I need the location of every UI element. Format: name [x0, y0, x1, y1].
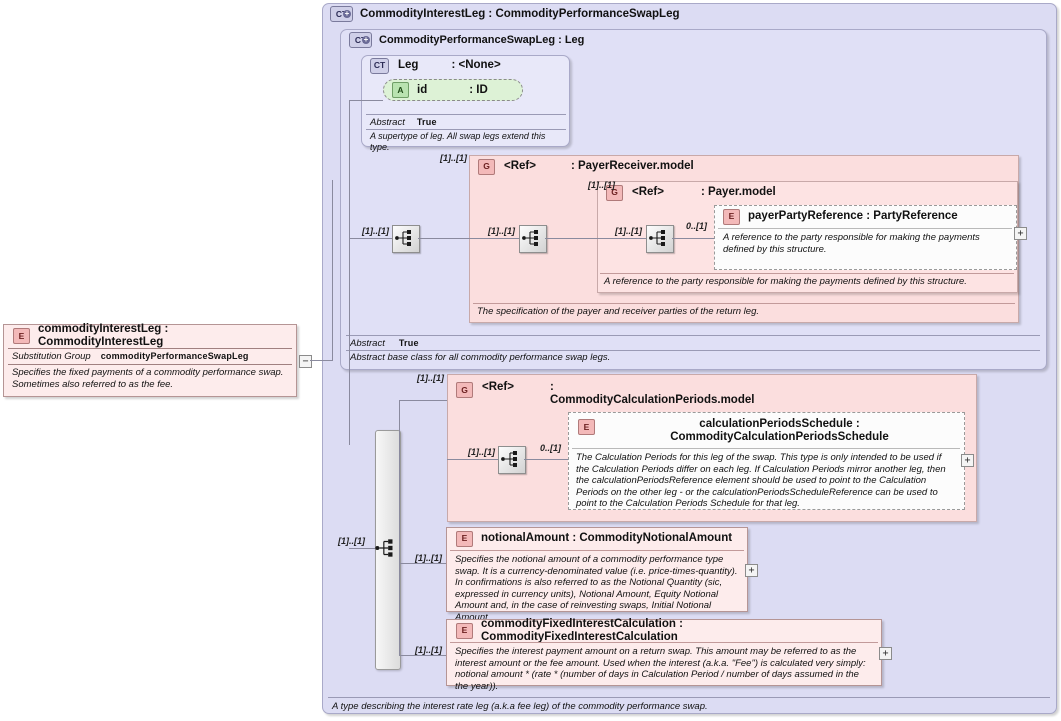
complex-type-icon: CT+ — [330, 6, 353, 22]
mid-abstract-key: Abstract — [350, 338, 385, 349]
connector-seq-to-payerreceiver — [418, 238, 469, 239]
element-icon: E — [723, 209, 740, 225]
calc-periods-sequence-icon[interactable] — [498, 446, 526, 474]
payer-party-reference-title-row: E payerPartyReference : PartyReference — [717, 208, 1015, 225]
connector-leg-branch — [349, 100, 383, 101]
left-element-description: Specifies the fixed payments of a commod… — [6, 365, 294, 392]
connector-bar-to-calcgroup — [399, 400, 447, 401]
e-label: E — [19, 332, 25, 341]
complex-type-icon: CT+ — [349, 32, 372, 48]
payer-sequence-icon[interactable] — [519, 225, 547, 253]
connector-seq-to-payerparty — [672, 238, 714, 239]
left-element-title: commodityInterestLeg : CommodityInterest… — [38, 323, 291, 349]
mid-type-abstract-row: Abstract True — [344, 336, 1038, 351]
outer-type-footer-description: A type describing the interest rate leg … — [326, 699, 1046, 715]
payer-receiver-description: The specification of the payer and recei… — [471, 304, 1015, 320]
element-icon: E — [13, 328, 30, 344]
calc-periods-inner-mult: [1]..[1] — [468, 447, 495, 457]
g-label: G — [483, 162, 490, 171]
fixed-interest-calculation-description: Specifies the interest payment amount on… — [449, 644, 879, 694]
e-label: E — [462, 626, 468, 635]
calc-periods-mult-out: 0..[1] — [540, 443, 561, 453]
payer-mult-top: [1]..[1] — [588, 180, 615, 190]
outer-type-title: CommodityInterestLeg : CommodityPerforma… — [360, 8, 680, 21]
payer-receiver-sequence-icon[interactable] — [392, 225, 420, 253]
outer-type-title-row: CT+ CommodityInterestLeg : CommodityPerf… — [324, 5, 1024, 23]
left-element-collapse-toggle[interactable]: − — [299, 355, 312, 368]
payer-description: A reference to the party responsible for… — [598, 274, 1014, 290]
mid-type-title-row: CT+ CommodityPerformanceSwapLeg : Leg — [343, 31, 1003, 49]
calc-periods-schedule-expand-toggle[interactable]: + — [961, 454, 974, 467]
notional-amount-title-row: E notionalAmount : CommodityNotionalAmou… — [450, 530, 746, 547]
complex-type-icon: CT — [370, 58, 389, 74]
e-label: E — [584, 423, 590, 432]
payer-party-reference-expand-toggle[interactable]: + — [1014, 227, 1027, 240]
notional-amount-title: notionalAmount : CommodityNotionalAmount — [481, 532, 732, 545]
leg-type-base: : <None> — [451, 59, 500, 72]
plus-badge-icon: + — [362, 36, 370, 44]
calc-periods-schedule-description: The Calculation Periods for this leg of … — [570, 450, 962, 512]
notional-amount-description: Specifies the notional amount of a commo… — [449, 552, 745, 625]
payer-type: : Payer.model — [701, 186, 776, 199]
payer-party-reference-divider — [718, 228, 1012, 229]
connector-outer-trunk — [332, 180, 333, 361]
calc-periods-mult-top: [1]..[1] — [417, 373, 444, 383]
payer-receiver-mult-in: [1]..[1] — [362, 226, 389, 236]
calc-periods-schedule-title-row: E calculationPeriodsSchedule : Commodity… — [572, 415, 962, 445]
notional-amount-expand-toggle[interactable]: + — [745, 564, 758, 577]
e-label: E — [462, 534, 468, 543]
connector-mid-trunk — [349, 100, 350, 445]
connector-payerreceiver-inner — [469, 238, 519, 239]
element-icon: E — [456, 531, 473, 547]
attribute-id-name: id — [417, 84, 427, 97]
main-sequence-mult-in: [1]..[1] — [338, 536, 365, 546]
payer-party-reference-title: payerPartyReference : PartyReference — [748, 210, 958, 223]
attribute-icon: A — [392, 82, 409, 98]
payer-receiver-ref-label: <Ref> — [504, 160, 536, 173]
connector-calcgroup-inner — [447, 459, 498, 460]
calc-periods-type: : CommodityCalculationPeriods.model — [550, 381, 716, 407]
g-label: G — [461, 386, 468, 395]
element-icon: E — [456, 623, 473, 639]
connector-bar-up-calcgroup — [399, 400, 400, 548]
main-sequence-icon[interactable] — [373, 535, 399, 561]
notional-amount-divider — [450, 550, 744, 551]
substitution-group-key: Substitution Group — [12, 351, 91, 362]
leg-abstract-value: True — [417, 117, 437, 128]
connector-payer-inner — [597, 238, 646, 239]
ct-label: CT — [374, 61, 385, 70]
e-label: E — [729, 212, 735, 221]
connector-seq-to-payer — [545, 238, 597, 239]
fixed-interest-calculation-title: commodityFixedInterestCalculation : Comm… — [481, 618, 874, 644]
element-icon: E — [578, 419, 595, 435]
connector-calcseq-to-schedule — [524, 459, 568, 460]
leg-type-name: Leg — [398, 59, 418, 72]
connector-bar-to-fixedinterest — [399, 655, 446, 656]
payer-receiver-mult-top: [1]..[1] — [440, 153, 467, 163]
leg-abstract-row: Abstract True — [364, 115, 566, 130]
mid-abstract-value: True — [399, 338, 419, 349]
group-icon: G — [478, 159, 495, 175]
payer-party-mult-out: 0..[1] — [686, 221, 707, 231]
leg-type-title-row: CT Leg : <None> — [364, 57, 564, 74]
plus-badge-icon: + — [343, 10, 351, 18]
connector-payerreceiver-branch — [349, 238, 392, 239]
connector-left-to-outer — [310, 360, 324, 361]
calc-periods-schedule-title: calculationPeriodsSchedule : CommodityCa… — [603, 418, 956, 444]
payer-receiver-title-row: G <Ref> : PayerReceiver.model — [472, 158, 872, 175]
fixed-interest-calculation-divider — [450, 642, 878, 643]
connector-bar-down-fixed — [399, 548, 400, 655]
left-element-substitution-row: Substitution Group commodityPerformanceS… — [6, 349, 296, 364]
mid-type-title: CommodityPerformanceSwapLeg : Leg — [379, 34, 584, 47]
fixed-interest-mult: [1]..[1] — [415, 645, 442, 655]
a-label: A — [397, 86, 403, 95]
notional-amount-mult: [1]..[1] — [415, 553, 442, 563]
leg-type-description: A supertype of leg. All swap legs extend… — [364, 129, 568, 155]
calc-periods-ref-label: <Ref> — [482, 381, 514, 394]
calc-periods-schedule-divider — [572, 448, 960, 449]
left-element-title-row: E commodityInterestLeg : CommodityIntere… — [7, 327, 297, 345]
group-icon: G — [456, 382, 473, 398]
payer-party-sequence-icon[interactable] — [646, 225, 674, 253]
payer-title-row: G <Ref> : Payer.model — [600, 184, 930, 201]
payer-inner-mult: [1]..[1] — [615, 226, 642, 236]
payer-receiver-type: : PayerReceiver.model — [571, 160, 694, 173]
payer-party-reference-description: A reference to the party responsible for… — [717, 230, 1011, 257]
mid-type-description: Abstract base class for all commodity pe… — [344, 350, 1038, 366]
connector-outer-trunk-stub — [324, 360, 333, 361]
connector-trunk-to-main-seq — [349, 548, 375, 549]
fixed-interest-calculation-expand-toggle[interactable]: + — [879, 647, 892, 660]
payer-receiver-inner-mult: [1]..[1] — [488, 226, 515, 236]
outer-footer-divider — [328, 697, 1050, 698]
fixed-interest-calculation-title-row: E commodityFixedInterestCalculation : Co… — [450, 622, 880, 639]
substitution-group-value: commodityPerformanceSwapLeg — [101, 351, 249, 362]
calc-periods-title-row: G <Ref> : CommodityCalculationPeriods.mo… — [450, 378, 750, 395]
attribute-id-type: : ID — [469, 84, 488, 97]
attribute-id-row: A id : ID — [386, 81, 526, 99]
connector-bar-to-notional — [399, 563, 446, 564]
leg-abstract-key: Abstract — [370, 117, 405, 128]
payer-ref-label: <Ref> — [632, 186, 664, 199]
